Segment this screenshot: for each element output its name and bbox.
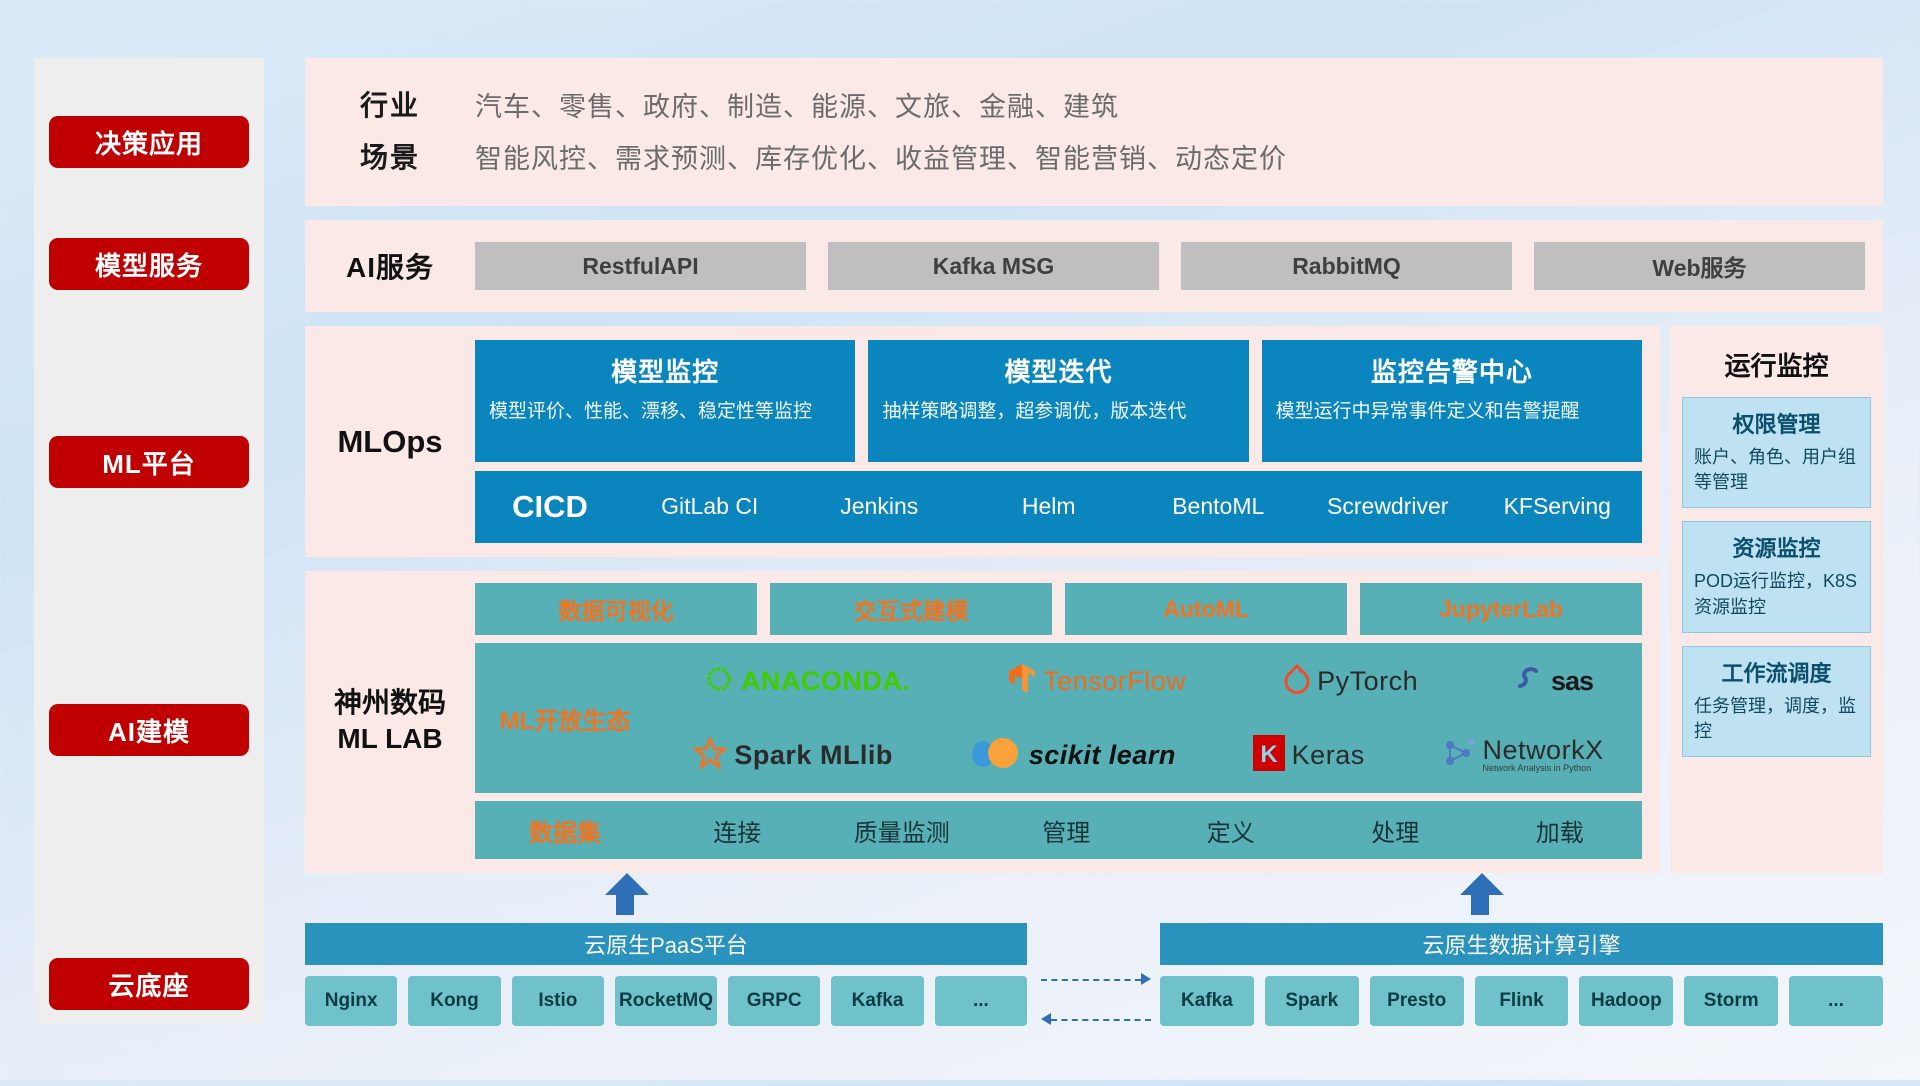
dashed-arrowhead-right [1141, 973, 1151, 985]
cicd-item-label: Screwdriver [1327, 493, 1448, 519]
ai-service-chip-rabbitmq[interactable]: RabbitMQ [1181, 242, 1512, 290]
industry-value: 汽车、零售、政府、制造、能源、文旅、金融、建筑 [475, 85, 1119, 124]
card-desc: 模型评价、性能、漂移、稳定性等监控 [489, 399, 841, 425]
modeling-tool-list: 数据可视化 交互式建模 AutoML JupyterLab [475, 583, 1642, 635]
tool-label: JupyterLab [1439, 596, 1563, 623]
cicd-item-label: KFServing [1504, 493, 1611, 519]
keras-icon: K [1253, 735, 1285, 776]
layer-button-cloud-base[interactable]: 云底座 [49, 958, 249, 1010]
data-engine-header: 云原生数据计算引擎 [1160, 923, 1883, 965]
ml-ecosystem-label: ML开放生态 [475, 701, 655, 736]
sas-label: sas [1551, 666, 1593, 697]
runtime-monitor-title: 运行监控 [1682, 340, 1871, 397]
dataset-item-label: 管理 [1042, 820, 1090, 847]
chip-label: RestfulAPI [582, 253, 698, 280]
mlops-content: 模型监控 模型评价、性能、漂移、稳定性等监控 模型迭代 抽样策略调整，超参调优，… [475, 340, 1660, 543]
tensorflow-icon [1008, 663, 1036, 700]
monitor-card-title: 工作流调度 [1694, 656, 1859, 688]
networkx-logo: NetworkX Network Analysis in Python [1442, 737, 1604, 774]
networkx-icon [1442, 737, 1476, 774]
dataset-item-label: 加载 [1536, 820, 1584, 847]
keras-logo: K Keras [1253, 735, 1365, 776]
dataset-item-label: 连接 [713, 820, 761, 847]
dataset-item-define[interactable]: 定义 [1149, 813, 1314, 848]
monitor-card-title: 资源监控 [1694, 531, 1859, 563]
pytorch-icon [1284, 664, 1310, 699]
layer-label: AI建模 [108, 712, 190, 749]
architecture-main: 行业 汽车、零售、政府、制造、能源、文旅、金融、建筑 场景 智能风控、需求预测、… [305, 58, 1883, 1086]
dataset-item-label: 处理 [1371, 820, 1419, 847]
platform-left-column: MLOps 模型监控 模型评价、性能、漂移、稳定性等监控 模型迭代 抽样策略调整… [305, 326, 1660, 873]
cicd-item-label: GitLab CI [661, 493, 758, 519]
arrow-up-data-engine [1460, 873, 1500, 913]
chip-label: Istio [538, 991, 577, 1012]
chip-label: RocketMQ [619, 991, 713, 1012]
cloud-foundation-zone: 云原生PaaS平台 Nginx Kong Istio RocketMQ GRPC… [305, 901, 1883, 1086]
chip-label: ... [1828, 991, 1844, 1012]
ai-service-chip-restfulapi[interactable]: RestfulAPI [475, 242, 806, 290]
diagram-canvas: 决策应用 模型服务 ML平台 AI建模 云底座 行业 汽车、零售、政府、制造、能… [0, 0, 1920, 1080]
scenario-row: 场景 智能风控、需求预测、库存优化、收益管理、智能营销、动态定价 [305, 130, 1883, 182]
band-divider [305, 206, 1883, 220]
chip-label: GRPC [747, 991, 802, 1012]
svg-text:K: K [1260, 741, 1278, 768]
ml-ecosystem-logos: ANACONDA. [655, 646, 1642, 790]
tool-interactive-modeling[interactable]: 交互式建模 [770, 583, 1052, 635]
modeling-band: 神州数码 ML LAB 数据可视化 交互式建模 AutoML JupyterLa… [305, 571, 1660, 873]
card-desc: 模型运行中异常事件定义和告警提醒 [1276, 399, 1628, 425]
paas-group: 云原生PaaS平台 Nginx Kong Istio RocketMQ GRPC… [305, 923, 1027, 1026]
networkx-subtitle: Network Analysis in Python [1483, 764, 1604, 773]
cicd-item-jenkins[interactable]: Jenkins [795, 489, 965, 525]
layer-button-model-service[interactable]: 模型服务 [49, 238, 249, 290]
cicd-item-label: Helm [1022, 493, 1076, 519]
tensorflow-logo: TensorFlow [1008, 663, 1186, 700]
sas-icon [1516, 665, 1544, 698]
dataset-item-manage[interactable]: 管理 [984, 813, 1149, 848]
engine-chip-flink[interactable]: Flink [1475, 976, 1569, 1026]
ml-lab-line1: 神州数码 [334, 685, 446, 721]
layer-button-decision[interactable]: 决策应用 [49, 116, 249, 168]
monitor-card-permissions[interactable]: 权限管理 账户、角色、用户组等管理 [1682, 397, 1871, 508]
card-title: 监控告警中心 [1276, 352, 1628, 389]
engine-chip-storm[interactable]: Storm [1684, 976, 1778, 1026]
paas-chip-istio[interactable]: Istio [512, 976, 604, 1026]
logo-row-2: Spark MLlib [655, 720, 1642, 790]
engine-chip-hadoop[interactable]: Hadoop [1579, 976, 1673, 1026]
monitor-card-resources[interactable]: 资源监控 POD运行监控，K8S资源监控 [1682, 521, 1871, 632]
logo-row-1: ANACONDA. [655, 646, 1642, 716]
ml-ecosystem-panel: ML开放生态 ANACONDA. [475, 643, 1642, 793]
anaconda-logo: ANACONDA. [704, 664, 911, 699]
tensorflow-label: TensorFlow [1043, 666, 1186, 697]
cicd-item-bentoml[interactable]: BentoML [1134, 489, 1304, 525]
dashed-connector-left [1051, 1019, 1151, 1021]
tool-label: 交互式建模 [854, 592, 969, 626]
ai-service-items: RestfulAPI Kafka MSG RabbitMQ Web服务 [475, 242, 1883, 290]
engine-chip-spark[interactable]: Spark [1265, 976, 1359, 1026]
spark-label: Spark MLlib [734, 740, 893, 771]
chip-label: Web服务 [1652, 249, 1746, 283]
dataset-item-load[interactable]: 加载 [1478, 813, 1643, 848]
scenario-value: 智能风控、需求预测、库存优化、收益管理、智能营销、动态定价 [475, 137, 1287, 176]
monitor-card-desc: POD运行监控，K8S资源监控 [1694, 569, 1859, 619]
paas-chip-kong[interactable]: Kong [408, 976, 500, 1026]
chip-label: ... [973, 991, 989, 1012]
layer-button-ml-platform[interactable]: ML平台 [49, 436, 249, 488]
ai-service-chip-web-service[interactable]: Web服务 [1534, 242, 1865, 290]
dashed-connector-right [1041, 979, 1141, 981]
engine-chip-presto[interactable]: Presto [1370, 976, 1464, 1026]
ai-service-label: AI服务 [305, 246, 475, 286]
monitor-card-title: 权限管理 [1694, 407, 1859, 439]
platform-zone: MLOps 模型监控 模型评价、性能、漂移、稳定性等监控 模型迭代 抽样策略调整… [305, 326, 1883, 873]
keras-label: Keras [1292, 740, 1365, 771]
scenario-label: 场景 [305, 136, 475, 176]
layer-rail: 决策应用 模型服务 ML平台 AI建模 云底座 [34, 58, 264, 1023]
chip-label: Kafka [1181, 991, 1233, 1012]
scikit-learn-label: scikit learn [1029, 740, 1176, 771]
business-band: 行业 汽车、零售、政府、制造、能源、文旅、金融、建筑 场景 智能风控、需求预测、… [305, 58, 1883, 206]
paas-chip-row: Nginx Kong Istio RocketMQ GRPC Kafka ... [305, 976, 1027, 1026]
mlops-card-list: 模型监控 模型评价、性能、漂移、稳定性等监控 模型迭代 抽样策略调整，超参调优，… [475, 340, 1642, 462]
sas-logo: sas [1516, 665, 1593, 698]
anaconda-icon [704, 664, 734, 699]
dataset-item-label: 定义 [1207, 820, 1255, 847]
scikit-learn-icon [970, 736, 1022, 775]
paas-header: 云原生PaaS平台 [305, 923, 1027, 965]
data-engine-chip-row: Kafka Spark Presto Flink Hadoop Storm ..… [1160, 976, 1883, 1026]
monitor-card-desc: 任务管理，调度，监控 [1694, 694, 1859, 744]
engine-chip-kafka[interactable]: Kafka [1160, 976, 1254, 1026]
tool-automl[interactable]: AutoML [1065, 583, 1347, 635]
data-engine-group: 云原生数据计算引擎 Kafka Spark Presto Flink Hadoo… [1160, 923, 1883, 1026]
anaconda-label: ANACONDA. [741, 666, 911, 697]
engine-chip-more[interactable]: ... [1789, 976, 1883, 1026]
mlops-label: MLOps [305, 340, 475, 543]
cicd-item-screwdriver[interactable]: Screwdriver [1303, 489, 1473, 525]
chip-label: Kong [430, 991, 479, 1012]
spark-star-icon [693, 737, 727, 774]
paas-chip-more[interactable]: ... [935, 976, 1027, 1026]
dataset-bar: 数据集 连接 质量监测 管理 定义 处理 加载 [475, 801, 1642, 859]
ml-lab-label: 神州数码 ML LAB [305, 583, 475, 859]
paas-chip-kafka[interactable]: Kafka [831, 976, 923, 1026]
pytorch-logo: PyTorch [1284, 664, 1418, 699]
spark-mllib-logo: Spark MLlib [693, 737, 893, 774]
tool-jupyterlab[interactable]: JupyterLab [1360, 583, 1642, 635]
layer-button-ai-modeling[interactable]: AI建模 [49, 704, 249, 756]
layer-label: 模型服务 [95, 246, 203, 283]
chip-label: Flink [1499, 991, 1543, 1012]
card-title: 模型监控 [489, 352, 841, 389]
band-divider [305, 557, 1660, 571]
tool-data-visualization[interactable]: 数据可视化 [475, 583, 757, 635]
ml-lab-line2: ML LAB [337, 721, 442, 757]
tool-label: AutoML [1163, 596, 1249, 623]
cicd-item-list: GitLab CI Jenkins Helm BentoML Screwdriv… [625, 489, 1642, 525]
monitor-card-workflow[interactable]: 工作流调度 任务管理，调度，监控 [1682, 646, 1871, 757]
dataset-item-list: 连接 质量监测 管理 定义 处理 加载 [655, 813, 1642, 848]
chip-label: Storm [1704, 991, 1759, 1012]
cicd-item-label: BentoML [1172, 493, 1264, 519]
arrow-up-paas [605, 873, 645, 913]
ai-service-chip-kafka-msg[interactable]: Kafka MSG [828, 242, 1159, 290]
pytorch-label: PyTorch [1317, 666, 1418, 697]
chip-label: Kafka [852, 991, 904, 1012]
cicd-item-label: Jenkins [840, 493, 918, 519]
cicd-bar: CICD GitLab CI Jenkins Helm BentoML Scre… [475, 471, 1642, 543]
dataset-item-quality[interactable]: 质量监测 [820, 813, 985, 848]
modeling-content: 数据可视化 交互式建模 AutoML JupyterLab ML开放生态 [475, 583, 1660, 859]
chip-label: Presto [1387, 991, 1446, 1012]
cicd-item-helm[interactable]: Helm [964, 489, 1134, 525]
paas-chip-grpc[interactable]: GRPC [728, 976, 820, 1026]
scikit-learn-logo: scikit learn [970, 736, 1176, 775]
dataset-item-process[interactable]: 处理 [1313, 813, 1478, 848]
dataset-item-label: 质量监测 [854, 820, 950, 847]
cicd-label: CICD [475, 489, 625, 525]
chip-label: Nginx [325, 991, 378, 1012]
cicd-item-gitlab-ci[interactable]: GitLab CI [625, 489, 795, 525]
layer-label: ML平台 [102, 444, 196, 481]
mlops-card-model-monitoring[interactable]: 模型监控 模型评价、性能、漂移、稳定性等监控 [475, 340, 855, 462]
card-desc: 抽样策略调整，超参调优，版本迭代 [882, 399, 1234, 425]
runtime-monitor-panel: 运行监控 权限管理 账户、角色、用户组等管理 资源监控 POD运行监控，K8S资… [1670, 326, 1883, 873]
tool-label: 数据可视化 [559, 592, 674, 626]
dataset-item-connect[interactable]: 连接 [655, 813, 820, 848]
chip-label: Hadoop [1591, 991, 1662, 1012]
dashed-arrowhead-left [1041, 1013, 1051, 1025]
layer-label: 决策应用 [95, 124, 203, 161]
layer-label: 云底座 [108, 966, 189, 1003]
paas-chip-rocketmq[interactable]: RocketMQ [615, 976, 717, 1026]
networkx-label: NetworkX [1483, 737, 1604, 764]
band-divider [305, 312, 1883, 326]
ai-service-band: AI服务 RestfulAPI Kafka MSG RabbitMQ Web服务 [305, 220, 1883, 312]
chip-label: Kafka MSG [933, 253, 1054, 280]
mlops-card-model-iteration[interactable]: 模型迭代 抽样策略调整，超参调优，版本迭代 [868, 340, 1248, 462]
chip-label: Spark [1285, 991, 1338, 1012]
mlops-card-alert-center[interactable]: 监控告警中心 模型运行中异常事件定义和告警提醒 [1262, 340, 1642, 462]
industry-label: 行业 [305, 84, 475, 124]
mlops-band: MLOps 模型监控 模型评价、性能、漂移、稳定性等监控 模型迭代 抽样策略调整… [305, 326, 1660, 557]
dataset-label: 数据集 [475, 813, 655, 848]
chip-label: RabbitMQ [1292, 253, 1401, 280]
card-title: 模型迭代 [882, 352, 1234, 389]
cicd-item-kfserving[interactable]: KFServing [1473, 489, 1643, 525]
monitor-card-desc: 账户、角色、用户组等管理 [1694, 445, 1859, 495]
paas-chip-nginx[interactable]: Nginx [305, 976, 397, 1026]
industry-row: 行业 汽车、零售、政府、制造、能源、文旅、金融、建筑 [305, 78, 1883, 130]
